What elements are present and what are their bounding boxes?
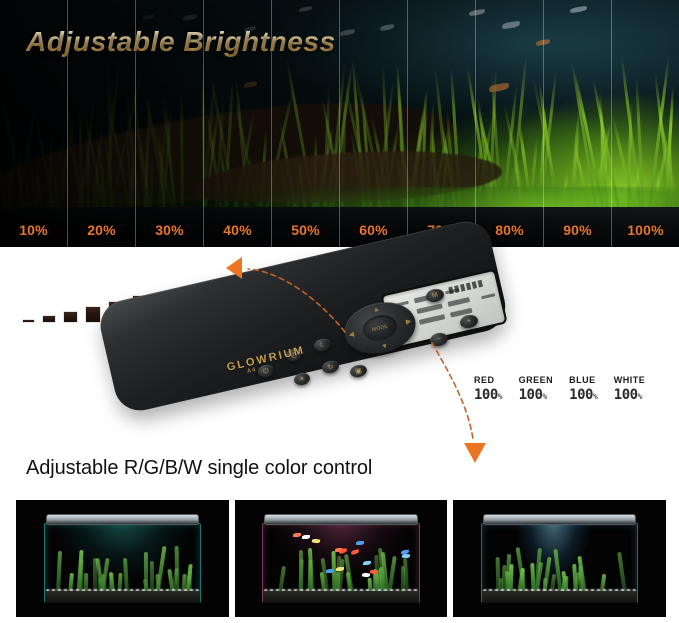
rgbw-channel-white: WHITE100% [614, 375, 646, 403]
brightness-level-label: 90% [544, 222, 611, 238]
rgbw-channel-value: 100% [519, 387, 554, 403]
banner-title: Adjustable Brightness [26, 26, 336, 58]
rgbw-channel-label: RED [474, 375, 503, 385]
brightness-slice-70: 70% [408, 0, 476, 247]
brightness-step-bar-2 [42, 315, 56, 323]
preset-icon: ▣ [349, 363, 368, 379]
brightness-step-bar-1 [22, 319, 35, 323]
brightness-slice-90: 90% [544, 0, 612, 247]
remote-section: ▲ ▼ ◀ ▶ MODE ⏻◴☀☾↻▣M+− GLOWRIUM A4 RED10… [0, 247, 679, 487]
brightness-level-label: 50% [272, 222, 339, 238]
brightness-step-bar-4 [85, 306, 101, 323]
brightness-level-label: 40% [204, 222, 271, 238]
dpad-center-button[interactable]: MODE [361, 312, 400, 344]
plant [617, 552, 627, 593]
rgbw-channel-label: BLUE [569, 375, 598, 385]
remote-control[interactable]: ▲ ▼ ◀ ▶ MODE ⏻◴☀☾↻▣M+− GLOWRIUM A4 [108, 269, 528, 459]
cycle-button[interactable]: ↻ [321, 359, 340, 375]
tank-plants [50, 540, 195, 594]
rgbw-channel-unit: % [542, 392, 547, 401]
brightness-step-bar-3 [63, 311, 78, 323]
brightness-down-button[interactable]: − [429, 331, 449, 348]
rgbw-channel-green: GREEN100% [519, 375, 554, 403]
led-light-bar [46, 514, 199, 525]
aquarium-photo-row [16, 500, 666, 617]
rgbw-channel-red: RED100% [474, 375, 503, 403]
section-title-rgbw: Adjustable R/G/B/W single color control [26, 457, 372, 480]
brightness-level-label: 10% [0, 222, 67, 238]
dpad-down-icon[interactable]: ▼ [381, 343, 389, 351]
rgbw-channel-unit: % [593, 392, 598, 401]
substrate [482, 591, 637, 603]
fish [402, 554, 410, 558]
led-light-bar [483, 514, 636, 525]
tank-plants [487, 540, 632, 594]
sunrise-button[interactable]: ☀ [293, 371, 311, 386]
plant [56, 551, 62, 594]
cycle-icon: ↻ [321, 359, 340, 375]
dpad-up-icon[interactable]: ▲ [372, 306, 380, 314]
brightness-slice-100: 100% [612, 0, 679, 247]
fish [293, 533, 301, 537]
rgbw-channel-value: 100% [474, 387, 503, 403]
dpad-right-icon[interactable]: ▶ [405, 317, 412, 326]
plant [144, 552, 148, 594]
rgbw-channel-label: GREEN [519, 375, 554, 385]
substrate [263, 591, 418, 603]
rgbw-channel-blue: BLUE100% [569, 375, 598, 403]
brightness-banner: 10%20%30%40%50%60%70%80%90%100% Adjustab… [0, 0, 679, 247]
brightness-down-icon: − [429, 331, 449, 348]
rgbw-readout: RED100%GREEN100%BLUE100%WHITE100% [474, 375, 645, 403]
preset-button[interactable]: ▣ [349, 363, 368, 379]
brightness-level-label: 100% [612, 222, 679, 238]
brightness-slice-60: 60% [340, 0, 408, 247]
dpad-center-label: MODE [361, 312, 400, 344]
plant [299, 550, 303, 593]
rgbw-channel-value: 100% [614, 387, 646, 403]
rgbw-channel-unit: % [498, 392, 503, 401]
aquarium-photo-blue [453, 500, 666, 617]
sunrise-icon: ☀ [293, 371, 311, 386]
substrate [45, 591, 200, 603]
rgbw-channel-value: 100% [569, 387, 598, 403]
fish [312, 538, 321, 543]
aquarium-photo-cyan [16, 500, 229, 617]
dpad-left-icon[interactable]: ◀ [348, 330, 355, 339]
aquarium-photo-pink [235, 500, 448, 617]
brightness-level-label: 30% [136, 222, 203, 238]
rgbw-channel-label: WHITE [614, 375, 646, 385]
brightness-slice-80: 80% [476, 0, 544, 247]
led-light-bar [264, 514, 417, 525]
product-infographic: 10%20%30%40%50%60%70%80%90%100% Adjustab… [0, 0, 679, 623]
rgbw-channel-unit: % [638, 392, 643, 401]
brightness-level-label: 20% [68, 222, 135, 238]
